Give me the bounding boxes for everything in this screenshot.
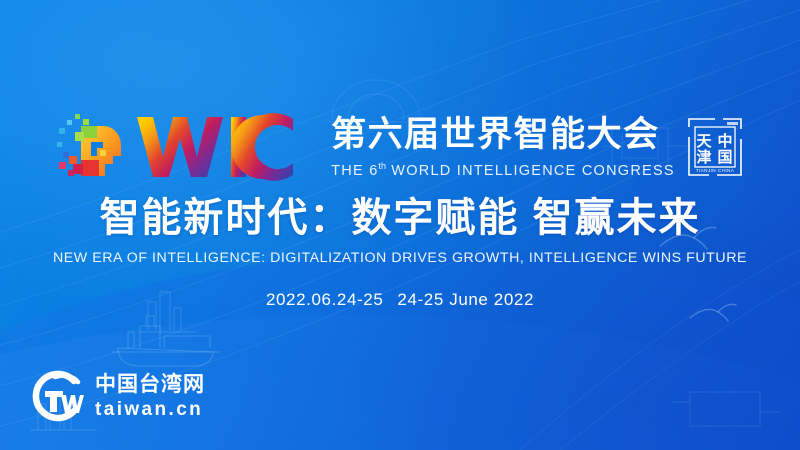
congress-poster: 第六届世界智能大会 THE 6th WORLD INTELLIGENCE CON… [0,0,800,450]
congress-title-en: THE 6th WORLD INTELLIGENCE CONGRESS [331,157,675,181]
congress-title-en-ordinal: th [379,161,387,171]
congress-title-cn: 第六届世界智能大会 [331,114,660,156]
taiwan-cn-watermark: 中国台湾网 taiwan.cn [30,368,205,424]
date-cn: 2022.06.24-25 [266,290,383,309]
badge-char-guo: 国 [717,149,732,166]
badge-char-jin: 津 [696,148,711,166]
badge-char-tian: 天 [696,133,712,150]
poster-dateline: 2022.06.24-2524-25 June 2022 [0,288,800,312]
date-en: 24-25 June 2022 [397,290,534,309]
watermark-text-block: 中国台湾网 taiwan.cn [95,372,205,421]
watermark-site-name-cn: 中国台湾网 [95,372,205,397]
congress-title-en-prefix: THE 6 [331,162,378,178]
watermark-site-name-en: taiwan.cn [95,398,205,421]
taiwan-cn-circle-logo-icon [30,368,86,424]
congress-title-en-rest: WORLD INTELLIGENCE CONGRESS [386,162,675,178]
wic-wordmark-icon [135,113,317,181]
badge-romanized: TIANJIN·CHINA [696,168,735,173]
wic-pixel-head-logo-icon [57,112,131,182]
tianjin-china-badge: 天 中 津 国 TIANJIN·CHINA [687,117,743,177]
tianjin-china-badge-icon: 天 中 津 国 TIANJIN·CHINA [687,117,743,177]
poster-headline-en: NEW ERA OF INTELLIGENCE: DIGITALIZATION … [0,248,800,268]
badge-char-zhong: 中 [717,132,732,150]
congress-logo-row: 第六届世界智能大会 THE 6th WORLD INTELLIGENCE CON… [0,112,800,182]
congress-title-block: 第六届世界智能大会 THE 6th WORLD INTELLIGENCE CON… [331,114,675,181]
poster-headline-cn: 智能新时代：数字赋能 智赢未来 [0,192,800,244]
